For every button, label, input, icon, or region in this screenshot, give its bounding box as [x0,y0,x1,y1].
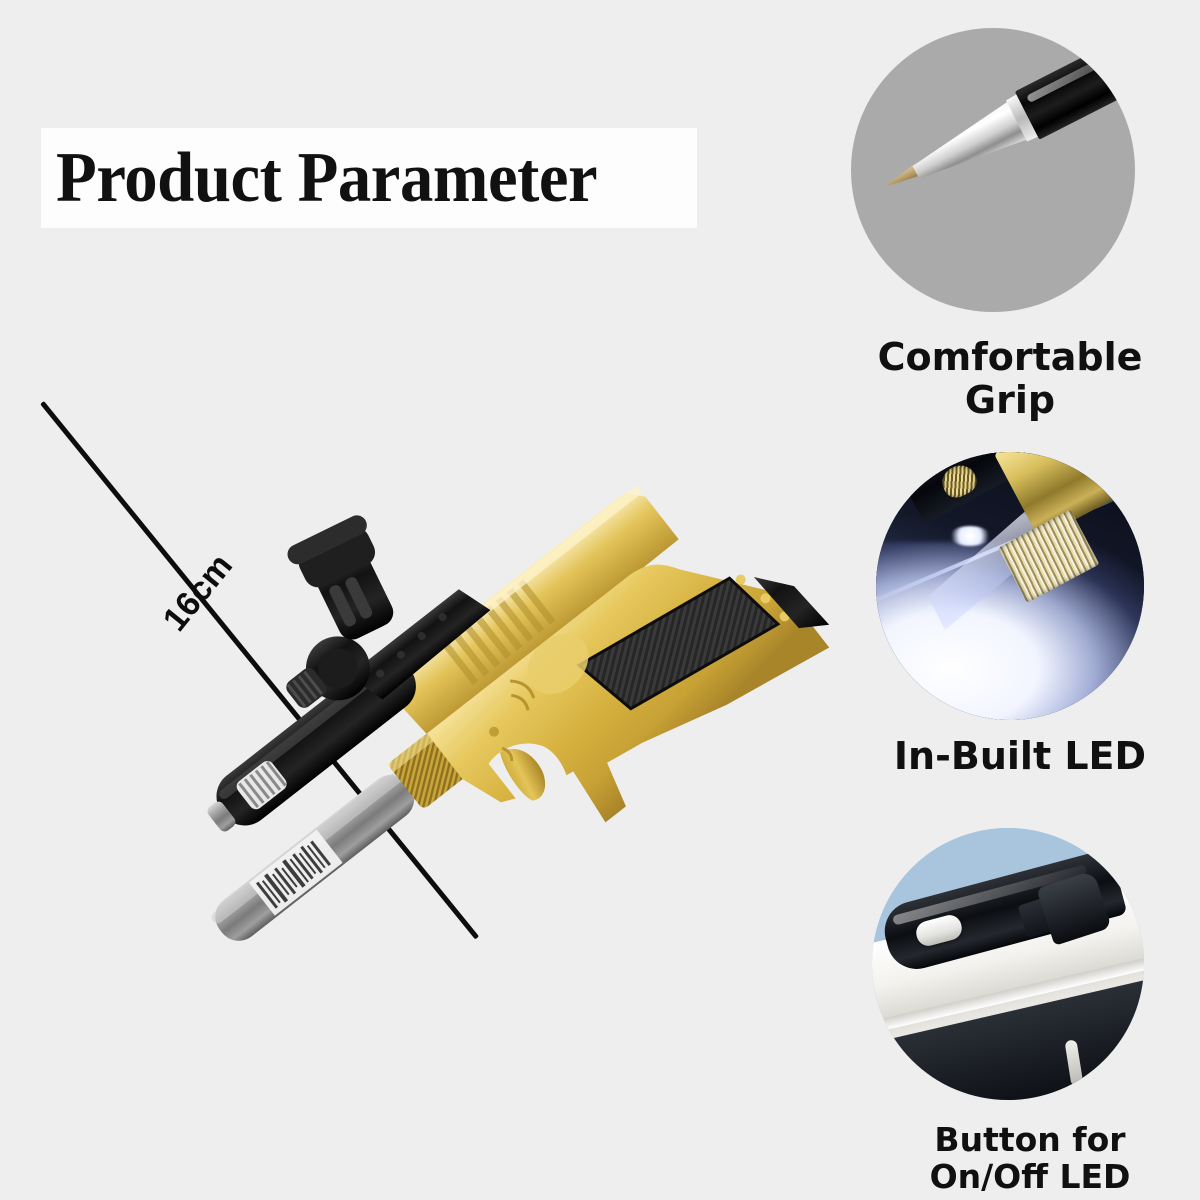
caption-comfortable-grip: Comfortable Grip [830,336,1190,421]
feature-circle-in-built-led [876,452,1144,720]
led-emitter [950,526,990,546]
product-photo [130,410,830,1030]
caption-in-built-led: In-Built LED [860,735,1180,778]
pen-barrel [203,729,469,954]
caption-onoff-button: Button for On/Off LED [880,1122,1180,1196]
page-title: Product Parameter [41,138,597,219]
feature-circle-onoff-button [872,828,1144,1100]
infographic-canvas: Product Parameter 16cm [0,0,1200,1200]
pen-body [1015,28,1135,140]
title-band: Product Parameter [41,128,697,228]
feature-circle-comfortable-grip [851,28,1135,312]
gold-pistol-pen-illustration [130,410,830,1030]
pen-tip-photo [875,28,1135,213]
